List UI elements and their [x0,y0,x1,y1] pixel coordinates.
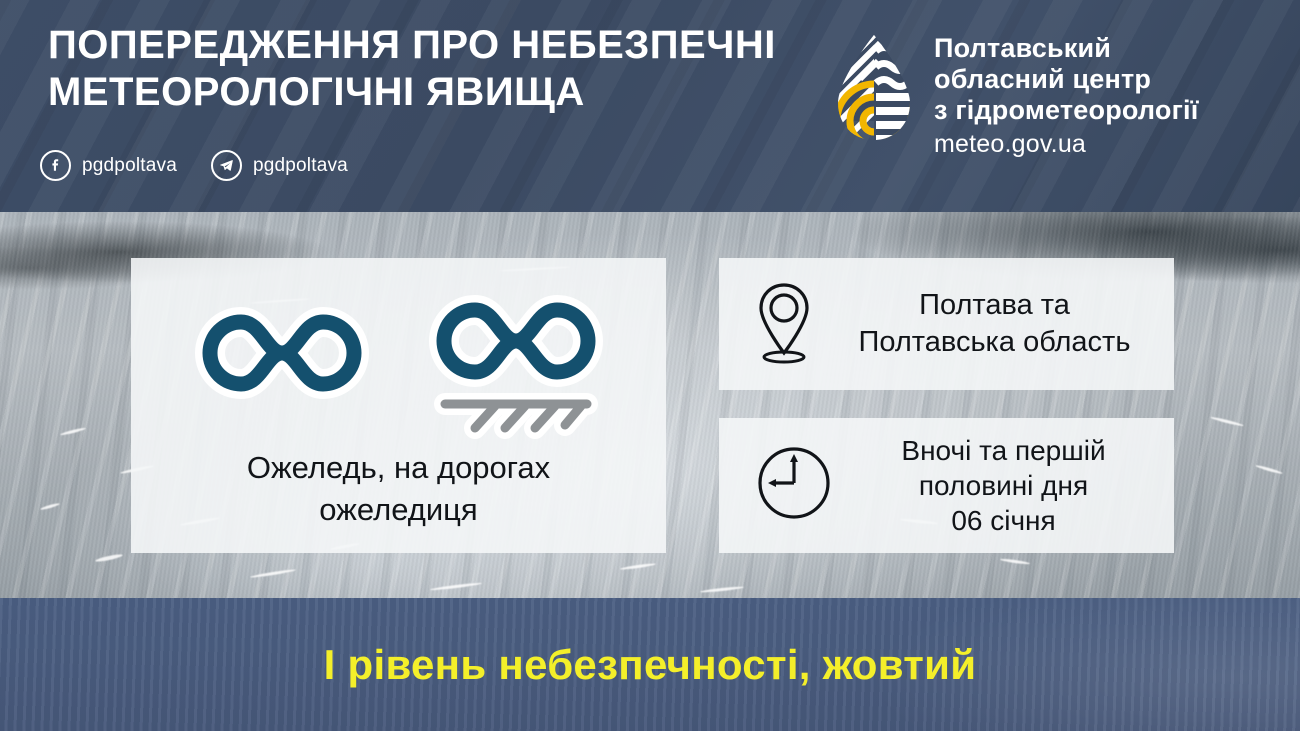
clock-icon [755,444,833,527]
facebook-handle: pgdpoltava [82,155,177,177]
road-ice-icon [423,292,609,442]
social-links: pgdpoltava pgdpoltava [40,150,382,181]
hazard-icon-row [131,292,666,447]
social-link-telegram[interactable]: pgdpoltava [211,150,348,181]
page-title: ПОПЕРЕДЖЕННЯ ПРО НЕБЕЗПЕЧНІ МЕТЕОРОЛОГІЧ… [48,22,838,116]
water-droplet-logo-icon [832,33,916,143]
road-ice-icon-wrapper [423,292,609,447]
logo-organization-name: Полтавський обласний центр з гідрометеор… [934,33,1199,126]
facebook-icon [40,150,71,181]
area-panel: Полтава та Полтавська область [719,258,1174,390]
hazard-panel: Ожеледь, на дорогах ожеледиця [131,258,666,553]
header-band: ПОПЕРЕДЖЕННЯ ПРО НЕБЕЗПЕЧНІ МЕТЕОРОЛОГІЧ… [0,0,1300,212]
telegram-icon [211,150,242,181]
warning-level-text: І рівень небезпечності, жовтий [0,598,1300,731]
glaze-ice-icon-wrapper [189,292,375,447]
hazard-caption: Ожеледь, на дорогах ожеледиця [131,447,666,531]
logo-website-url: meteo.gov.ua [934,129,1199,159]
area-text: Полтава та Полтавська область [829,287,1174,361]
social-link-facebook[interactable]: pgdpoltava [40,150,177,181]
telegram-handle: pgdpoltava [253,155,348,177]
weather-warning-poster: ПОПЕРЕДЖЕННЯ ПРО НЕБЕЗПЕЧНІ МЕТЕОРОЛОГІЧ… [0,0,1300,731]
warning-level-banner: І рівень небезпечності, жовтий [0,598,1300,731]
glaze-ice-icon [189,292,375,442]
organization-logo: Полтавський обласний центр з гідрометеор… [832,33,1199,159]
time-text: Вночі та першій половині дня 06 січня [847,433,1174,538]
time-panel: Вночі та першій половині дня 06 січня [719,418,1174,553]
location-pin-icon [753,279,815,370]
